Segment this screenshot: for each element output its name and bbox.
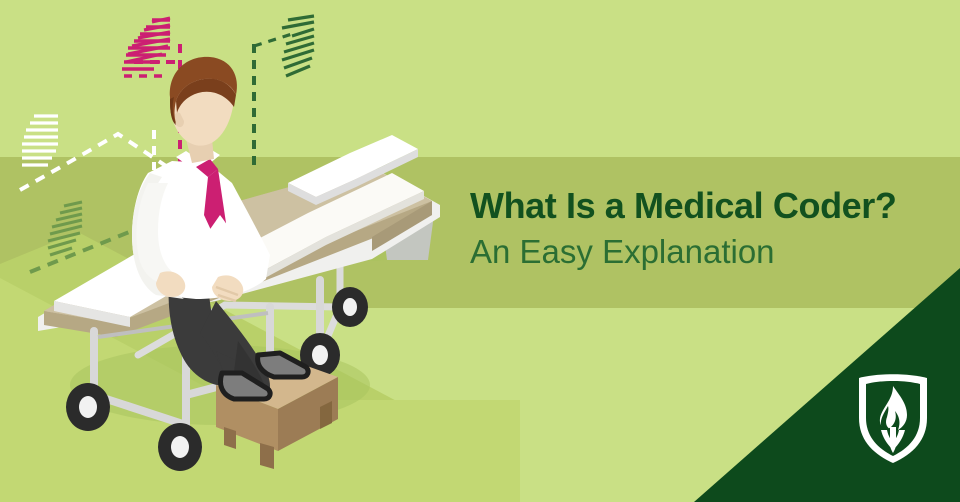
- illustration-exam-room-scene: [20, 55, 470, 475]
- page-subtitle: An Easy Explanation: [470, 234, 940, 271]
- rasmussen-shield-logo-icon: [855, 372, 931, 464]
- banner-hero: What Is a Medical Coder? An Easy Explana…: [0, 0, 960, 502]
- headline-block: What Is a Medical Coder? An Easy Explana…: [470, 186, 940, 271]
- page-title: What Is a Medical Coder?: [470, 186, 940, 226]
